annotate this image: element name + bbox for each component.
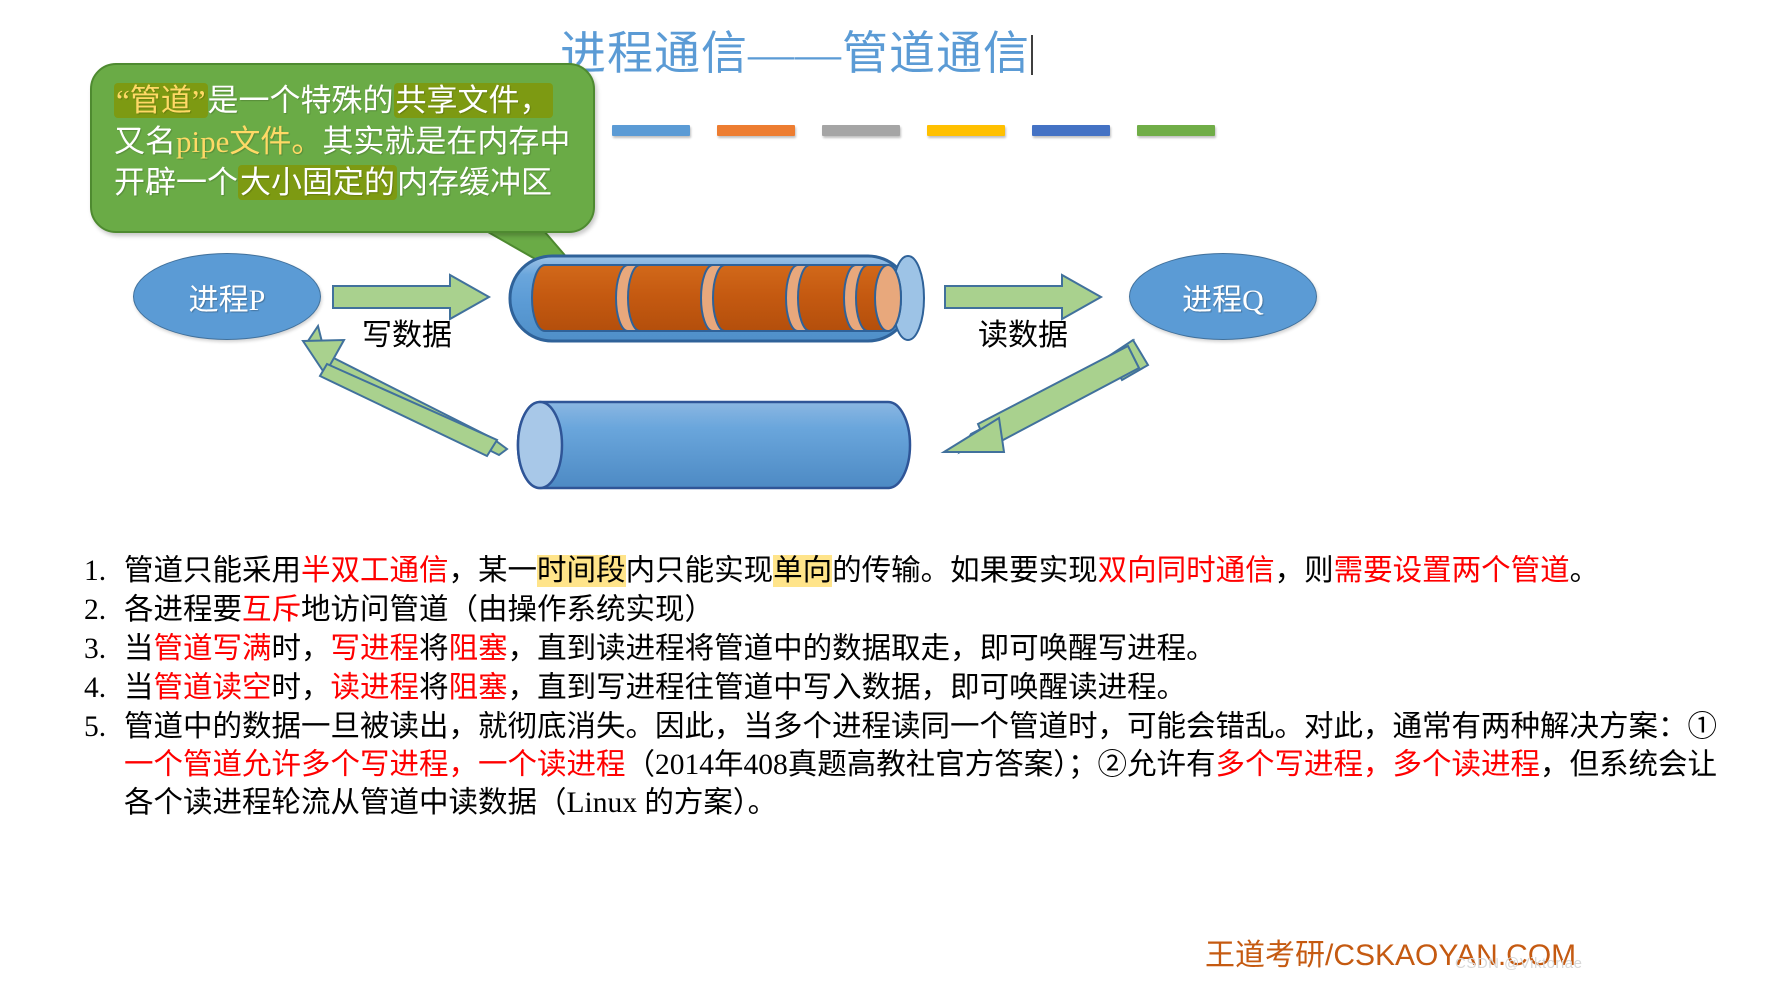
note-run: 管道中的数据一旦被读出，就彻底消失。因此，当多个进程读同一个管道时，可能会错乱。… (124, 711, 1717, 743)
pipe-bottom (518, 402, 910, 488)
note-run: 将 (419, 672, 449, 704)
pipe-top-data (532, 265, 901, 331)
note-run: 管道写满 (154, 633, 272, 665)
note-number: 3. (78, 630, 124, 668)
note-item: 5.管道中的数据一旦被读出，就彻底消失。因此，当多个进程读同一个管道时，可能会错… (78, 708, 1718, 822)
note-run: 互斥 (242, 594, 301, 626)
note-run: ，则 (1275, 555, 1334, 587)
note-run: 各进程要 (124, 594, 242, 626)
note-run: 将 (419, 633, 449, 665)
note-run: 当 (124, 633, 154, 665)
note-run: （2014年408真题高教社官方答案）；②允许有 (626, 749, 1216, 781)
note-run: 多个写进程，多个读进程 (1216, 749, 1541, 781)
notes-list: 1.管道只能采用半双工通信，某一时间段内只能实现单向的传输。如果要实现双向同时通… (78, 552, 1718, 823)
process-p-node[interactable]: 进程P (133, 253, 321, 340)
note-run: 一个管道允许多个写进程，一个读进程 (124, 749, 626, 781)
note-run: 管道只能采用 (124, 555, 301, 587)
note-run: 当 (124, 672, 154, 704)
note-run: 写进程 (331, 633, 420, 665)
note-run: 管道读空 (154, 672, 272, 704)
return-arrow-right-icon (944, 340, 1148, 452)
note-number: 1. (78, 552, 124, 590)
note-run: 。 (1570, 555, 1600, 587)
write-arrow-label: 写数据 (362, 310, 452, 354)
note-run: 单向 (773, 555, 832, 587)
note-number: 5. (78, 708, 124, 746)
note-text: 当管道写满时，写进程将阻塞，直到读进程将管道中的数据取走，即可唤醒写进程。 (124, 630, 1718, 668)
note-text: 管道中的数据一旦被读出，就彻底消失。因此，当多个进程读同一个管道时，可能会错乱。… (124, 708, 1718, 822)
note-item: 1.管道只能采用半双工通信，某一时间段内只能实现单向的传输。如果要实现双向同时通… (78, 552, 1718, 590)
note-text: 管道只能采用半双工通信，某一时间段内只能实现单向的传输。如果要实现双向同时通信，… (124, 552, 1718, 590)
footer-watermark: CSDN @Viktoriae (1455, 955, 1583, 972)
note-number: 4. (78, 669, 124, 707)
process-q-label: 进程Q (1182, 275, 1264, 319)
note-run: 的传输。如果要实现 (832, 555, 1098, 587)
note-run: 内只能实现 (626, 555, 774, 587)
process-p-label: 进程P (189, 275, 266, 319)
note-run: 时， (272, 672, 331, 704)
process-q-node[interactable]: 进程Q (1129, 253, 1317, 340)
note-run: ，直到读进程将管道中的数据取走，即可唤醒写进程。 (508, 633, 1216, 665)
note-run: 阻塞 (449, 633, 508, 665)
read-arrow-label: 读数据 (978, 310, 1068, 354)
note-run: 半双工通信 (301, 555, 449, 587)
note-text: 各进程要互斥地访问管道（由操作系统实现） (124, 591, 1718, 629)
note-run: 双向同时通信 (1098, 555, 1275, 587)
note-item: 3.当管道写满时，写进程将阻塞，直到读进程将管道中的数据取走，即可唤醒写进程。 (78, 630, 1718, 668)
note-run: ，某一 (449, 555, 538, 587)
note-run: 地访问管道（由操作系统实现） (301, 594, 714, 626)
note-run: 需要设置两个管道 (1334, 555, 1570, 587)
note-number: 2. (78, 591, 124, 629)
note-item: 4.当管道读空时，读进程将阻塞，直到写进程往管道中写入数据，即可唤醒读进程。 (78, 669, 1718, 707)
note-run: ，直到写进程往管道中写入数据，即可唤醒读进程。 (508, 672, 1187, 704)
note-run: 时， (272, 633, 331, 665)
note-text: 当管道读空时，读进程将阻塞，直到写进程往管道中写入数据，即可唤醒读进程。 (124, 669, 1718, 707)
note-run: 阻塞 (449, 672, 508, 704)
note-item: 2.各进程要互斥地访问管道（由操作系统实现） (78, 591, 1718, 629)
note-run: 读进程 (331, 672, 420, 704)
note-run: 时间段 (537, 555, 626, 587)
